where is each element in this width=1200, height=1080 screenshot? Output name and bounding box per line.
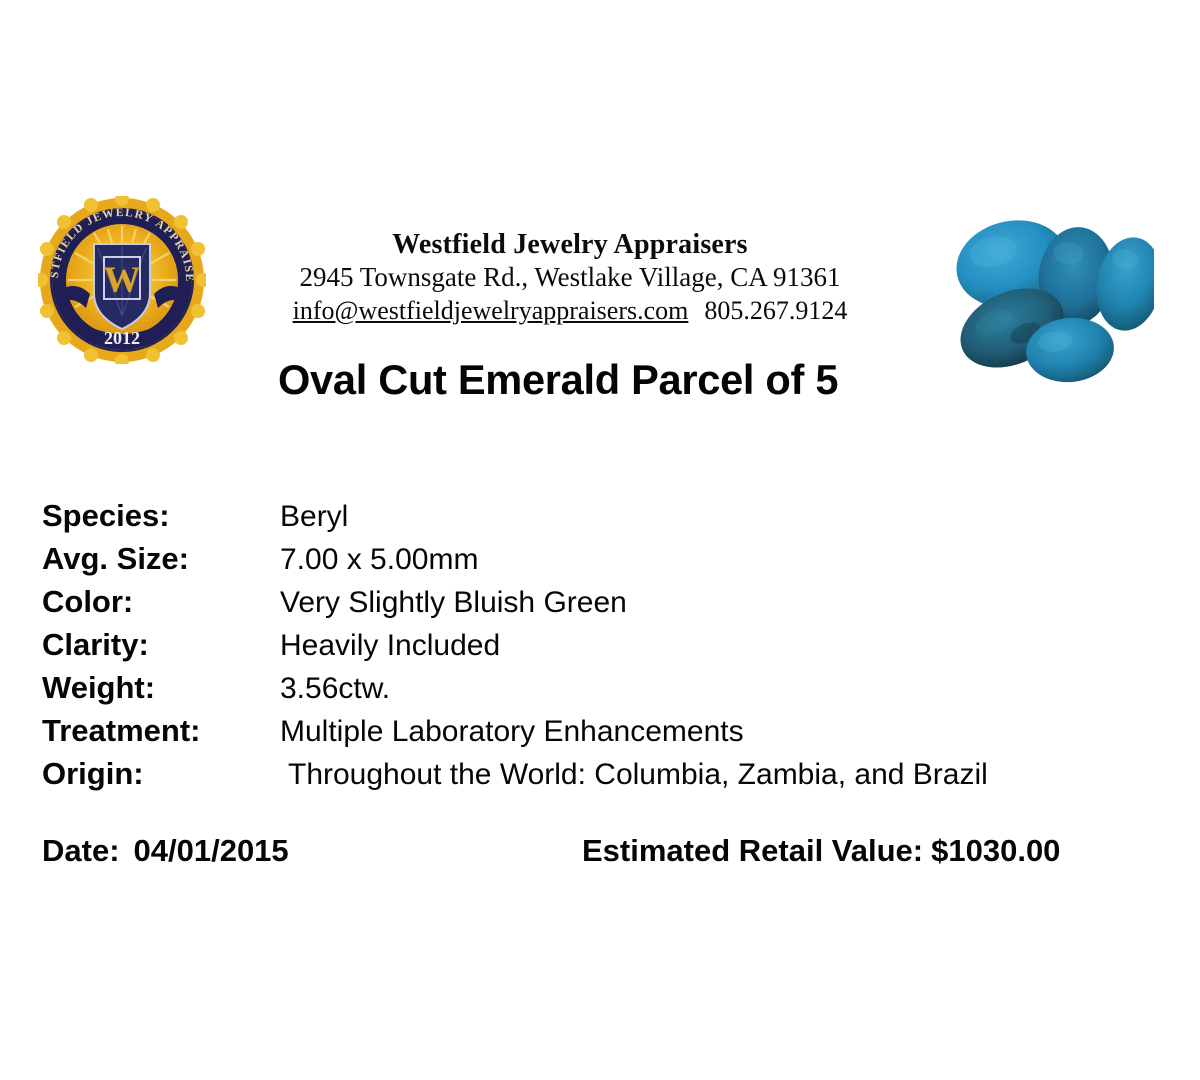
letterhead: Westfield Jewelry Appraisers 2945 Townsg… (225, 228, 915, 327)
retail-value-block: Estimated Retail Value:$1030.00 (582, 833, 1060, 869)
table-row: Treatment: Multiple Laboratory Enhanceme… (42, 713, 1162, 756)
contact-email-link[interactable]: info@westfieldjewelryappraisers.com (293, 296, 689, 325)
spec-value: Beryl (280, 500, 348, 534)
retail-value-label: Estimated Retail Value: (582, 833, 923, 868)
date-block: Date:04/01/2015 (42, 833, 289, 869)
spec-label: Treatment: (42, 713, 280, 749)
spec-value: 7.00 x 5.00mm (280, 543, 478, 577)
spec-label: Species: (42, 498, 280, 534)
company-name: Westfield Jewelry Appraisers (225, 228, 915, 261)
emerald-parcel-photo (930, 198, 1154, 400)
spec-value: Multiple Laboratory Enhancements (280, 715, 744, 749)
table-row: Avg. Size: 7.00 x 5.00mm (42, 541, 1162, 584)
page-title: Oval Cut Emerald Parcel of 5 (278, 356, 838, 404)
date-label: Date: (42, 833, 120, 868)
spec-value: Very Slightly Bluish Green (280, 586, 627, 620)
seal-monogram: W (104, 260, 141, 301)
table-row: Origin: Throughout the World: Columbia, … (42, 756, 1162, 799)
appraisal-card: WESTFIELD JEWELRY APPRAISERS (0, 0, 1200, 1080)
spec-value: Throughout the World: Columbia, Zambia, … (280, 758, 988, 792)
westfield-seal-logo: WESTFIELD JEWELRY APPRAISERS (38, 196, 206, 364)
spec-value: Heavily Included (280, 629, 500, 663)
table-row: Weight: 3.56ctw. (42, 670, 1162, 713)
spec-value: 3.56ctw. (280, 672, 390, 706)
seal-shield: W (94, 244, 150, 329)
table-row: Clarity: Heavily Included (42, 627, 1162, 670)
table-row: Species: Beryl (42, 498, 1162, 541)
footer: Date:04/01/2015 Estimated Retail Value:$… (42, 833, 1162, 869)
spec-label: Color: (42, 584, 280, 620)
svg-text:2012: 2012 (104, 328, 140, 348)
contact-line: info@westfieldjewelryappraisers.com805.2… (225, 295, 915, 328)
date-value: 04/01/2015 (134, 833, 289, 868)
retail-value-amount: $1030.00 (931, 833, 1060, 868)
table-row: Color: Very Slightly Bluish Green (42, 584, 1162, 627)
spec-label: Clarity: (42, 627, 280, 663)
spec-label: Avg. Size: (42, 541, 280, 577)
contact-phone: 805.267.9124 (704, 296, 847, 325)
spec-label: Origin: (42, 756, 280, 792)
specification-table: Species: Beryl Avg. Size: 7.00 x 5.00mm … (42, 498, 1162, 799)
spec-label: Weight: (42, 670, 280, 706)
company-address: 2945 Townsgate Rd., Westlake Village, CA… (225, 261, 915, 294)
